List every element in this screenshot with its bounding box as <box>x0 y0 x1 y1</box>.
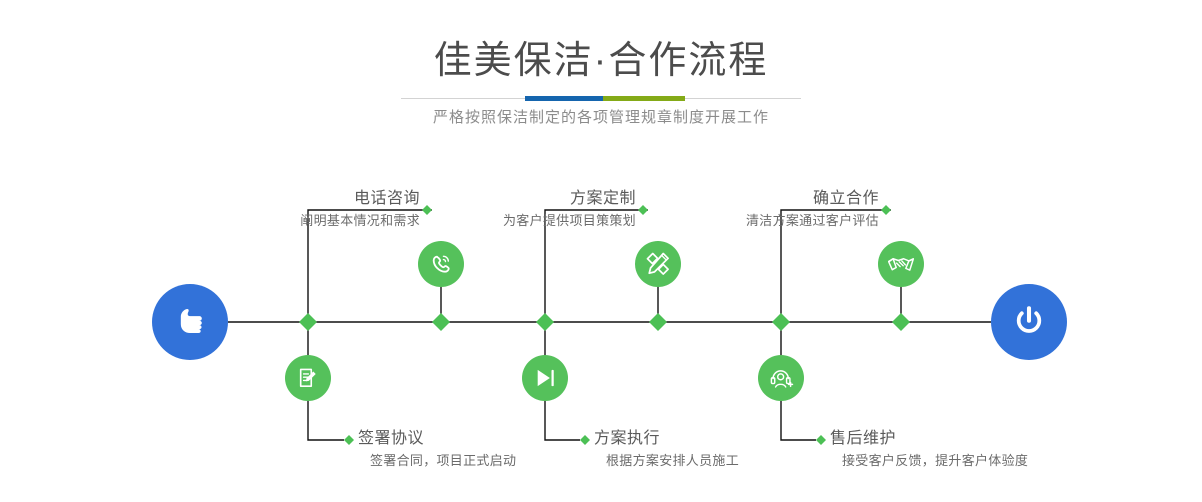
step-title-3: 方案定制 <box>408 188 636 209</box>
step-label-5: 确立合作 清洁方案通过客户评估 <box>651 188 879 231</box>
step-icon-4[interactable] <box>522 355 568 401</box>
document-edit-icon <box>295 365 321 391</box>
axis-diamond-1 <box>299 313 317 331</box>
phone-call-icon <box>428 251 454 277</box>
label-diamond-6 <box>816 435 826 445</box>
step-title-2: 签署协议 <box>358 428 516 449</box>
pencil-ruler-icon <box>644 250 672 278</box>
step-label-3: 方案定制 为客户提供项目策策划 <box>408 188 636 231</box>
connector-step-2 <box>308 401 344 440</box>
power-icon <box>1009 302 1049 342</box>
step-icon-2[interactable] <box>285 355 331 401</box>
axis-diamond-2 <box>432 313 450 331</box>
pointing-hand-icon <box>169 301 211 343</box>
connector-step-6 <box>781 401 816 440</box>
step-title-4: 方案执行 <box>594 428 739 449</box>
step-icon-5[interactable] <box>878 241 924 287</box>
label-diamond-4 <box>580 435 590 445</box>
axis-diamond-3 <box>536 313 554 331</box>
step-icon-6[interactable] <box>758 355 804 401</box>
step-subtitle-5: 清洁方案通过客户评估 <box>651 211 879 231</box>
step-title-1: 电话咨询 <box>192 188 420 209</box>
step-title-5: 确立合作 <box>651 188 879 209</box>
connector-step-4 <box>545 401 580 440</box>
step-label-1: 电话咨询 阐明基本情况和需求 <box>192 188 420 231</box>
connector-lines <box>0 0 1202 502</box>
label-diamond-2 <box>344 435 354 445</box>
axis-diamond-5 <box>772 313 790 331</box>
label-diamond-5 <box>881 205 891 215</box>
customer-support-add-icon <box>768 365 795 392</box>
label-diamond-3 <box>638 205 648 215</box>
step-icon-3[interactable] <box>635 241 681 287</box>
step-subtitle-3: 为客户提供项目策策划 <box>408 211 636 231</box>
axis-diamond-6 <box>892 313 910 331</box>
timeline-canvas <box>0 0 1202 502</box>
step-title-6: 售后维护 <box>830 428 1028 449</box>
handshake-icon <box>887 250 915 278</box>
step-subtitle-2: 签署合同，项目正式启动 <box>358 451 516 471</box>
step-label-4: 方案执行 根据方案安排人员施工 <box>594 428 739 471</box>
axis-diamond-4 <box>649 313 667 331</box>
flow-diagram-page: 佳美保洁·合作流程 严格按照保洁制定的各项管理规章制度开展工作 <box>0 0 1202 502</box>
step-subtitle-6: 接受客户反馈，提升客户体验度 <box>830 451 1028 471</box>
play-execute-icon <box>532 365 558 391</box>
flow-end-node[interactable] <box>991 284 1067 360</box>
flow-start-node[interactable] <box>152 284 228 360</box>
step-subtitle-1: 阐明基本情况和需求 <box>192 211 420 231</box>
step-label-6: 售后维护 接受客户反馈，提升客户体验度 <box>830 428 1028 471</box>
step-subtitle-4: 根据方案安排人员施工 <box>594 451 739 471</box>
step-label-2: 签署协议 签署合同，项目正式启动 <box>358 428 516 471</box>
step-icon-1[interactable] <box>418 241 464 287</box>
label-markers <box>344 205 891 445</box>
